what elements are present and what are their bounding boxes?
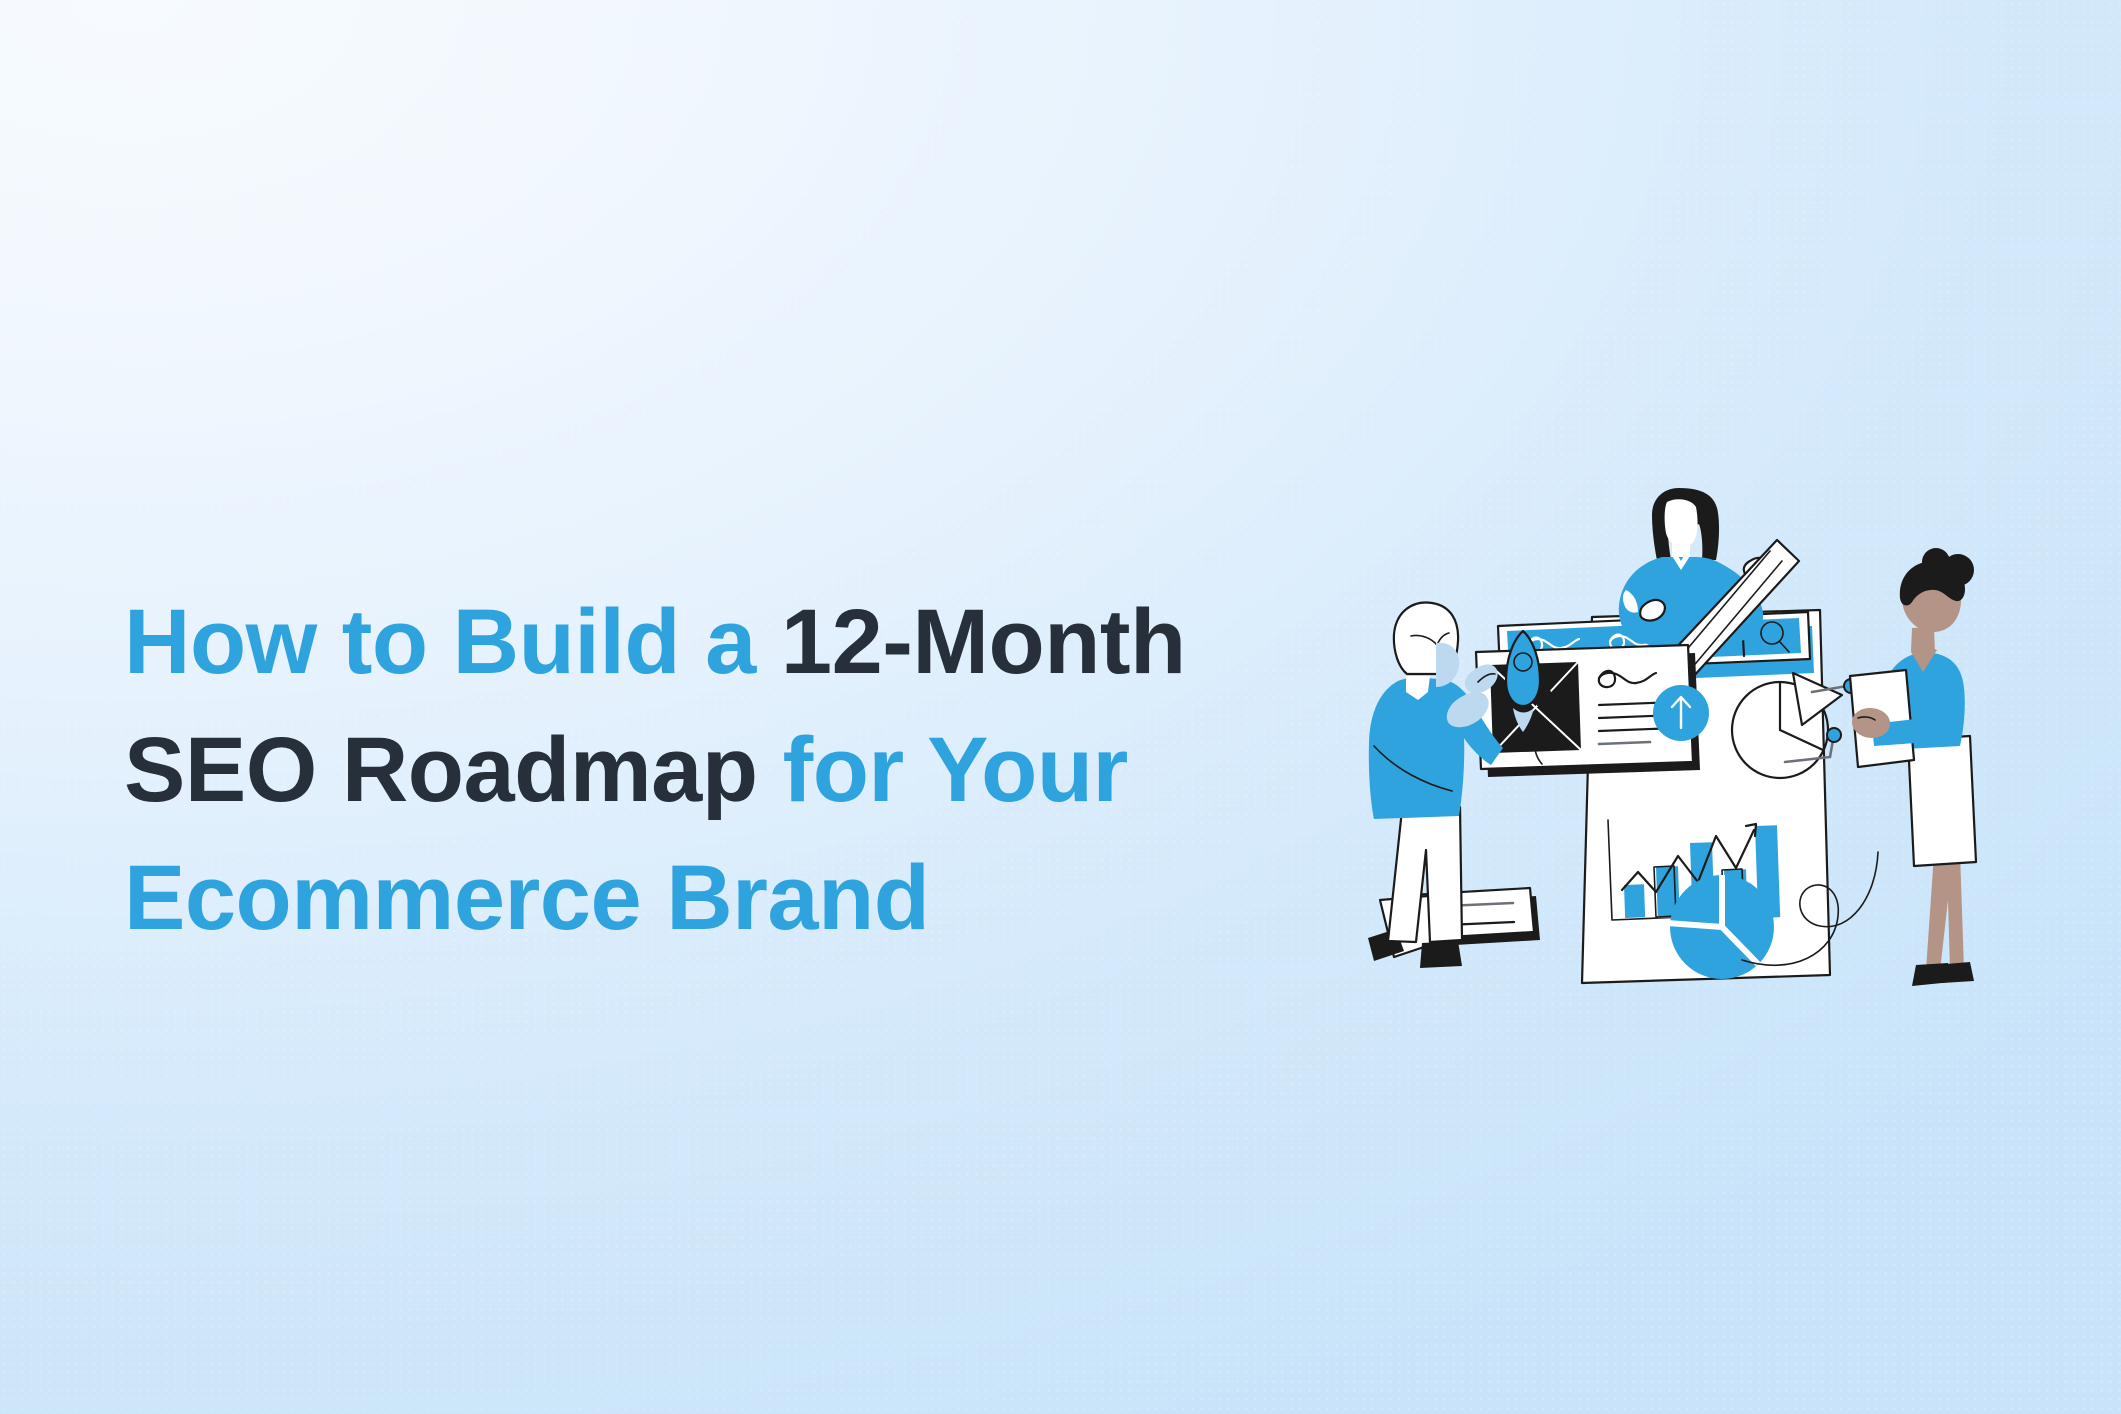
hero-banner: How to Build a 12-Month SEO Roadmap for …: [0, 0, 2121, 1414]
illustration-canvas: .ln { fill:none; stroke:#1b1b1b; stroke-…: [1350, 430, 2070, 1010]
trend-arrow-badge: [1653, 685, 1709, 741]
page-title-part-1: How to Build a: [124, 591, 781, 693]
person-top: [1619, 488, 1769, 647]
page-title: How to Build a 12-Month SEO Roadmap for …: [124, 578, 1354, 962]
person-right: [1850, 548, 1976, 986]
seo-analytics-team-illustration: .ln { fill:none; stroke:#1b1b1b; stroke-…: [1350, 430, 2070, 1010]
bar-1: [1624, 884, 1645, 918]
